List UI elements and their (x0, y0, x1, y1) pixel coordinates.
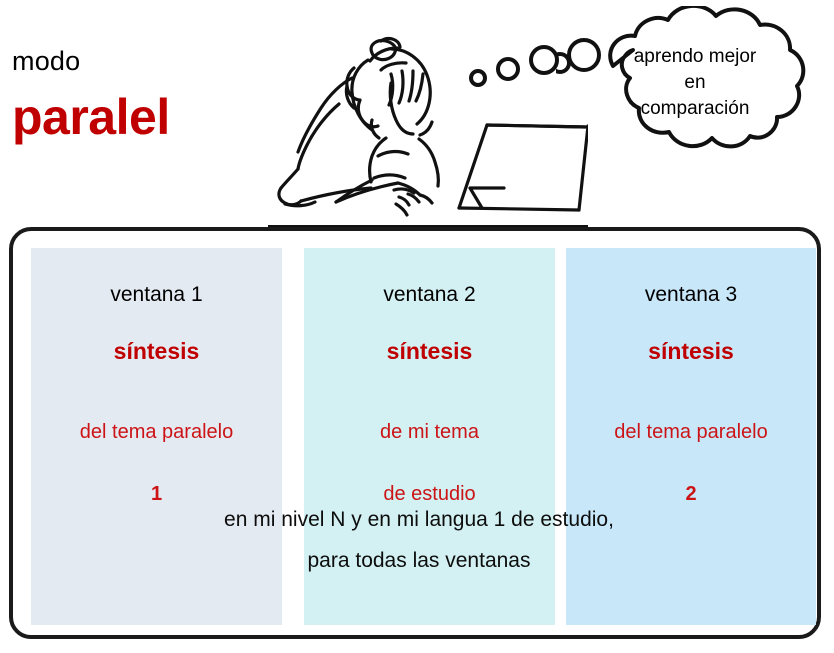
synthesis-label-2: síntesis (304, 340, 555, 363)
synthesis-description-2: de mi tema de estudio (304, 386, 555, 510)
parallel-mode-panel: ventana 1 síntesis del tema paralelo 1 v… (9, 227, 821, 639)
synthesis-description-number-1: 1 (151, 483, 162, 505)
thought-bubble-text: aprendo mejor en comparación (596, 44, 794, 122)
synthesis-description-text-2: de mi tema (380, 421, 479, 443)
window-column-1[interactable]: ventana 1 síntesis del tema paralelo 1 (31, 248, 282, 625)
laptop-base-front (459, 208, 579, 210)
window-column-3[interactable]: ventana 3 síntesis del tema paralelo 2 (566, 248, 816, 625)
thought-dot-small-2 (498, 59, 518, 79)
window-label-3: ventana 3 (566, 284, 816, 305)
thought-dot-small-1 (471, 71, 485, 85)
header-area: modo paralel (0, 0, 834, 228)
synthesis-description-number-2: de estudio (383, 483, 475, 505)
synthesis-label-3: síntesis (566, 340, 816, 363)
laptop-trackpad (470, 188, 504, 208)
thought-dot-small-4 (569, 40, 599, 70)
window-label-1: ventana 1 (31, 284, 282, 305)
synthesis-description-3: del tema paralelo 2 (566, 386, 816, 510)
page-title: paralel (12, 92, 170, 142)
synthesis-description-text-3: del tema paralelo (614, 421, 767, 443)
synthesis-description-text-1: del tema paralelo (80, 421, 233, 443)
synthesis-description-number-3: 2 (685, 483, 696, 505)
window-label-2: ventana 2 (304, 284, 555, 305)
synthesis-label-1: síntesis (31, 340, 282, 363)
window-column-2[interactable]: ventana 2 síntesis de mi tema de estudio (304, 248, 555, 625)
mode-label: modo (12, 48, 80, 75)
synthesis-description-1: del tema paralelo 1 (31, 386, 282, 510)
thought-dot-small-3 (531, 47, 557, 73)
